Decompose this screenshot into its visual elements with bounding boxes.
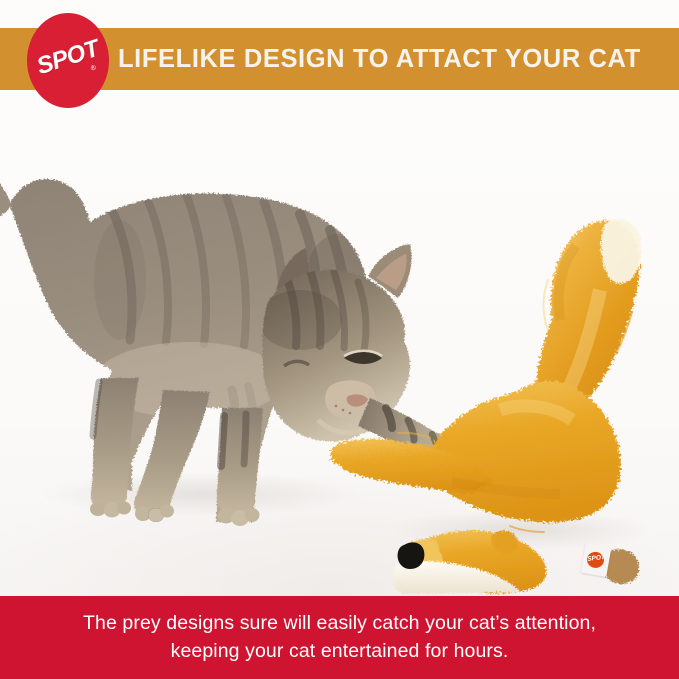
tag-logo-icon: SPOT: [586, 551, 606, 570]
fox-toy-illustration: [0, 90, 679, 596]
footer-line-2: keeping your cat entertained for hours.: [0, 637, 679, 665]
footer-line-1: The prey designs sure will easily catch …: [0, 609, 679, 637]
footer-text: The prey designs sure will easily catch …: [0, 609, 679, 665]
toy-nose: [398, 542, 425, 569]
spot-logo: SPOT ®: [27, 13, 109, 108]
footer-banner: The prey designs sure will easily catch …: [0, 596, 679, 679]
product-marketing-image: LIFELIKE DESIGN TO ATTACT YOUR CAT SPOT …: [0, 0, 679, 679]
toy-body: [330, 381, 620, 522]
tag-logo-text: SPOT: [587, 554, 605, 563]
header-title: LIFELIKE DESIGN TO ATTACT YOUR CAT: [118, 28, 641, 90]
product-photo: SPOT: [0, 90, 679, 596]
spot-brand-tag: SPOT: [581, 543, 612, 577]
